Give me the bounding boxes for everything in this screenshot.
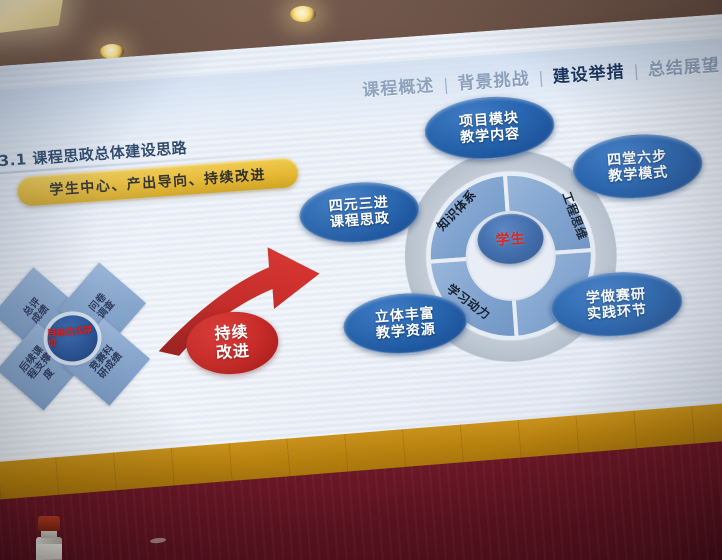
bottle-neck [41,530,57,538]
node-label-line: 教学内容 [460,126,521,146]
tab-separator: | [633,61,640,80]
assessment-center-label: 目标达成评价 [47,327,98,350]
node-label-line: 教学资源 [375,321,436,341]
downlight-icon [290,6,316,22]
bottle-label [36,544,62,559]
tab-separator: | [443,75,450,94]
student-centered-ring-diagram: 知识体系 工程思维 学习动力 学生 项目模块 教学内容 四元三进 课程思政 四堂… [320,79,722,437]
ring-center-label: 学生 [495,228,526,250]
tab-construction-measures[interactable]: 建设举措 [552,57,626,87]
photo-scene: 课程概述 | 背景挑战 | 建设举措 | 总结展望 3.1 课程思政总体建设思路… [0,0,722,560]
bottle-cap [38,516,60,531]
slide-content: 课程概述 | 背景挑战 | 建设举措 | 总结展望 3.1 课程思政总体建设思路… [0,38,722,470]
tab-background-challenges[interactable]: 背景挑战 [457,64,531,94]
arrow-label-line: 改进 [215,342,250,363]
tab-separator: | [538,68,545,87]
tab-summary-outlook[interactable]: 总结展望 [647,50,721,80]
node-label-line: 教学模式 [608,164,669,184]
tab-course-overview[interactable]: 课程概述 [361,71,435,101]
principles-banner-label: 学生中心、产出导向、持续改进 [49,164,267,199]
water-bottle [34,516,64,560]
node-label-line: 实践环节 [587,302,648,322]
node-label-line: 课程思政 [329,210,390,230]
